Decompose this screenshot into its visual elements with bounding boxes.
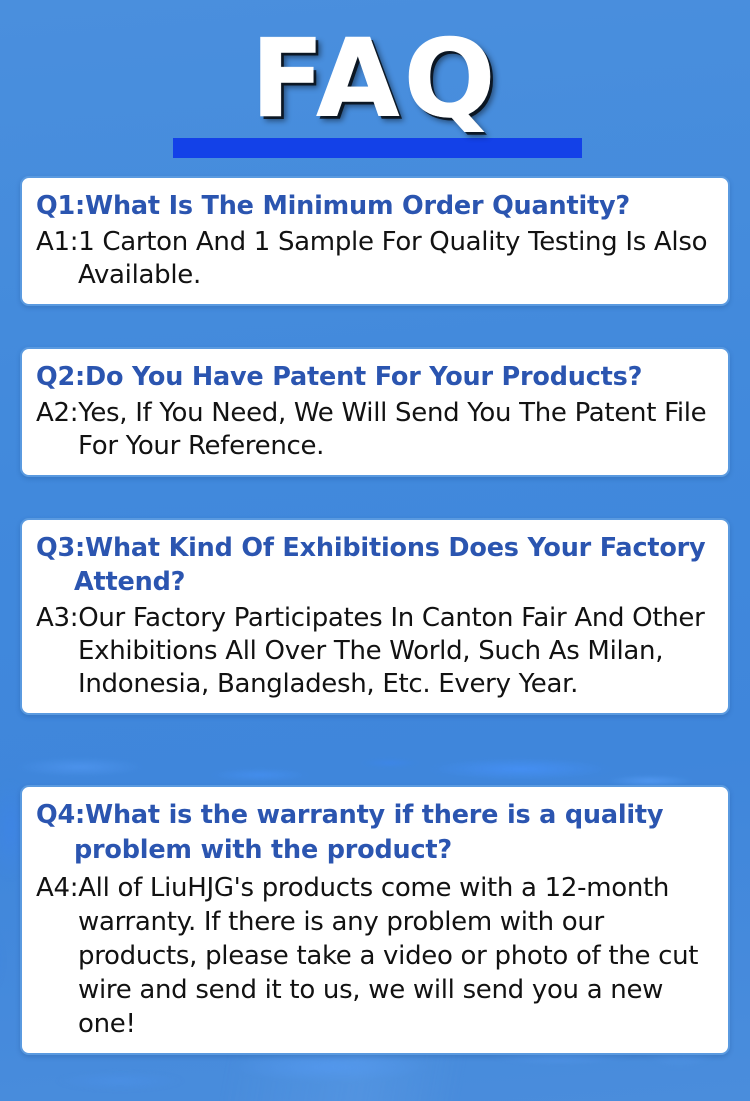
faq-question-2: Q2:Do You Have Patent For Your Products? <box>36 360 714 394</box>
faq-answer-1: A1:1 Carton And 1 Sample For Quality Tes… <box>36 226 714 292</box>
faq-question-1: Q1:What Is The Minimum Order Quantity? <box>36 189 714 223</box>
page-title: FAQ <box>0 18 750 142</box>
faq-answer-2: A2:Yes, If You Need, We Will Send You Th… <box>36 397 714 463</box>
faq-card-3: Q3:What Kind Of Exhibitions Does Your Fa… <box>20 518 730 715</box>
faq-answer-3: A3:Our Factory Participates In Canton Fa… <box>36 602 714 701</box>
faq-page: FAQ Q1:What Is The Minimum Order Quantit… <box>0 0 750 1101</box>
faq-card-4: Q4:What is the warranty if there is a qu… <box>20 785 730 1055</box>
faq-card-1: Q1:What Is The Minimum Order Quantity? A… <box>20 176 730 306</box>
faq-header: FAQ <box>0 18 750 163</box>
faq-card-2: Q2:Do You Have Patent For Your Products?… <box>20 347 730 477</box>
faq-question-3: Q3:What Kind Of Exhibitions Does Your Fa… <box>36 531 714 599</box>
faq-question-4: Q4:What is the warranty if there is a qu… <box>36 798 714 868</box>
faq-answer-4: A4:All of LiuHJG's products come with a … <box>36 871 714 1041</box>
